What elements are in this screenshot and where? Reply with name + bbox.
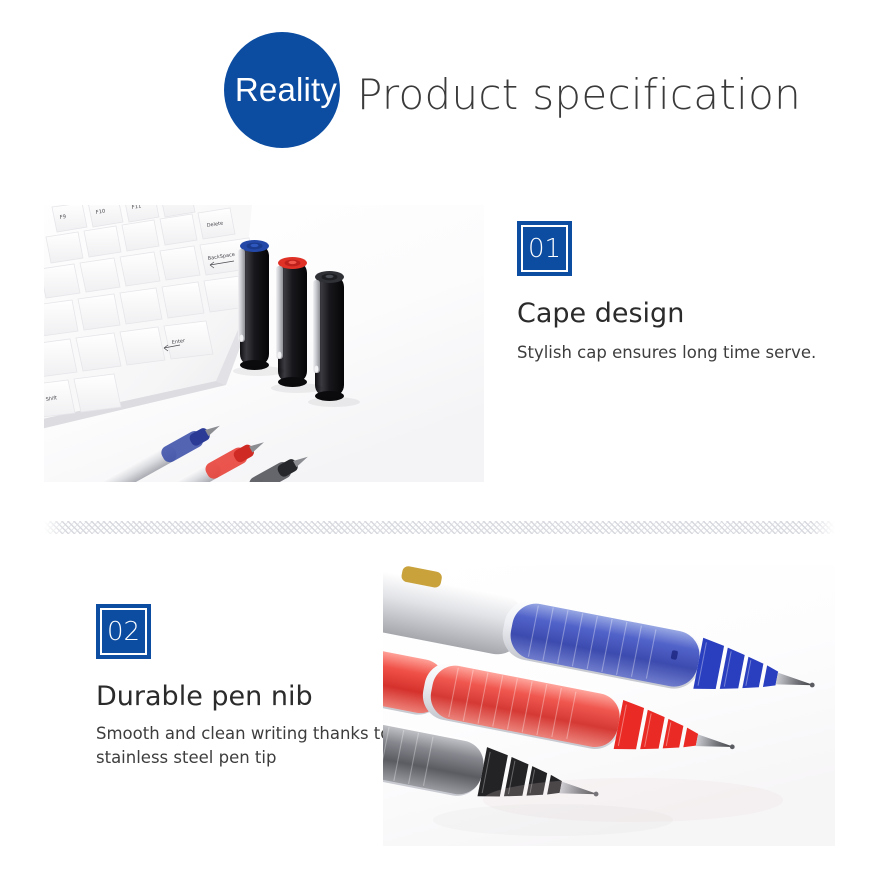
pen-nib-closeup-photo (383, 565, 835, 846)
brand-badge: Reality (224, 32, 340, 148)
pen-caps-on-keyboard-photo: F9 F10 F11 F12 Delete BackSpace Enter Sh… (44, 205, 484, 482)
hatched-divider (44, 521, 835, 534)
pen-nib-illustration (383, 565, 835, 846)
page-title: Product specification (357, 70, 801, 119)
badge-inner-frame: 02 (100, 608, 147, 655)
feature-block-01: 01 Cape design Stylish cap ensures long … (517, 221, 827, 365)
pen-cap-black (313, 271, 344, 401)
brand-label: Reality (235, 71, 337, 109)
feature-number-badge-01: 01 (517, 221, 572, 276)
feature-description-01: Stylish cap ensures long time serve. (517, 341, 827, 365)
feature-description-02: Smooth and clean writing thanks to stain… (96, 722, 426, 770)
feature-number-02: 02 (107, 619, 140, 645)
product-specification-page: Reality Product specification (0, 0, 878, 878)
feature-title-02: Durable pen nib (96, 681, 426, 712)
feature-number-01: 01 (528, 236, 561, 262)
pen-cap-blue (238, 240, 269, 370)
svg-text:F9: F9 (59, 214, 66, 221)
badge-inner-frame: 01 (521, 225, 568, 272)
feature-number-badge-02: 02 (96, 604, 151, 659)
feature-title-01: Cape design (517, 298, 827, 329)
feature-block-02: 02 Durable pen nib Smooth and clean writ… (96, 604, 426, 770)
page-header: Reality Product specification (0, 0, 878, 175)
pen-cap-red (276, 257, 307, 387)
pen-caps-illustration: F9 F10 F11 F12 Delete BackSpace Enter Sh… (44, 205, 484, 482)
